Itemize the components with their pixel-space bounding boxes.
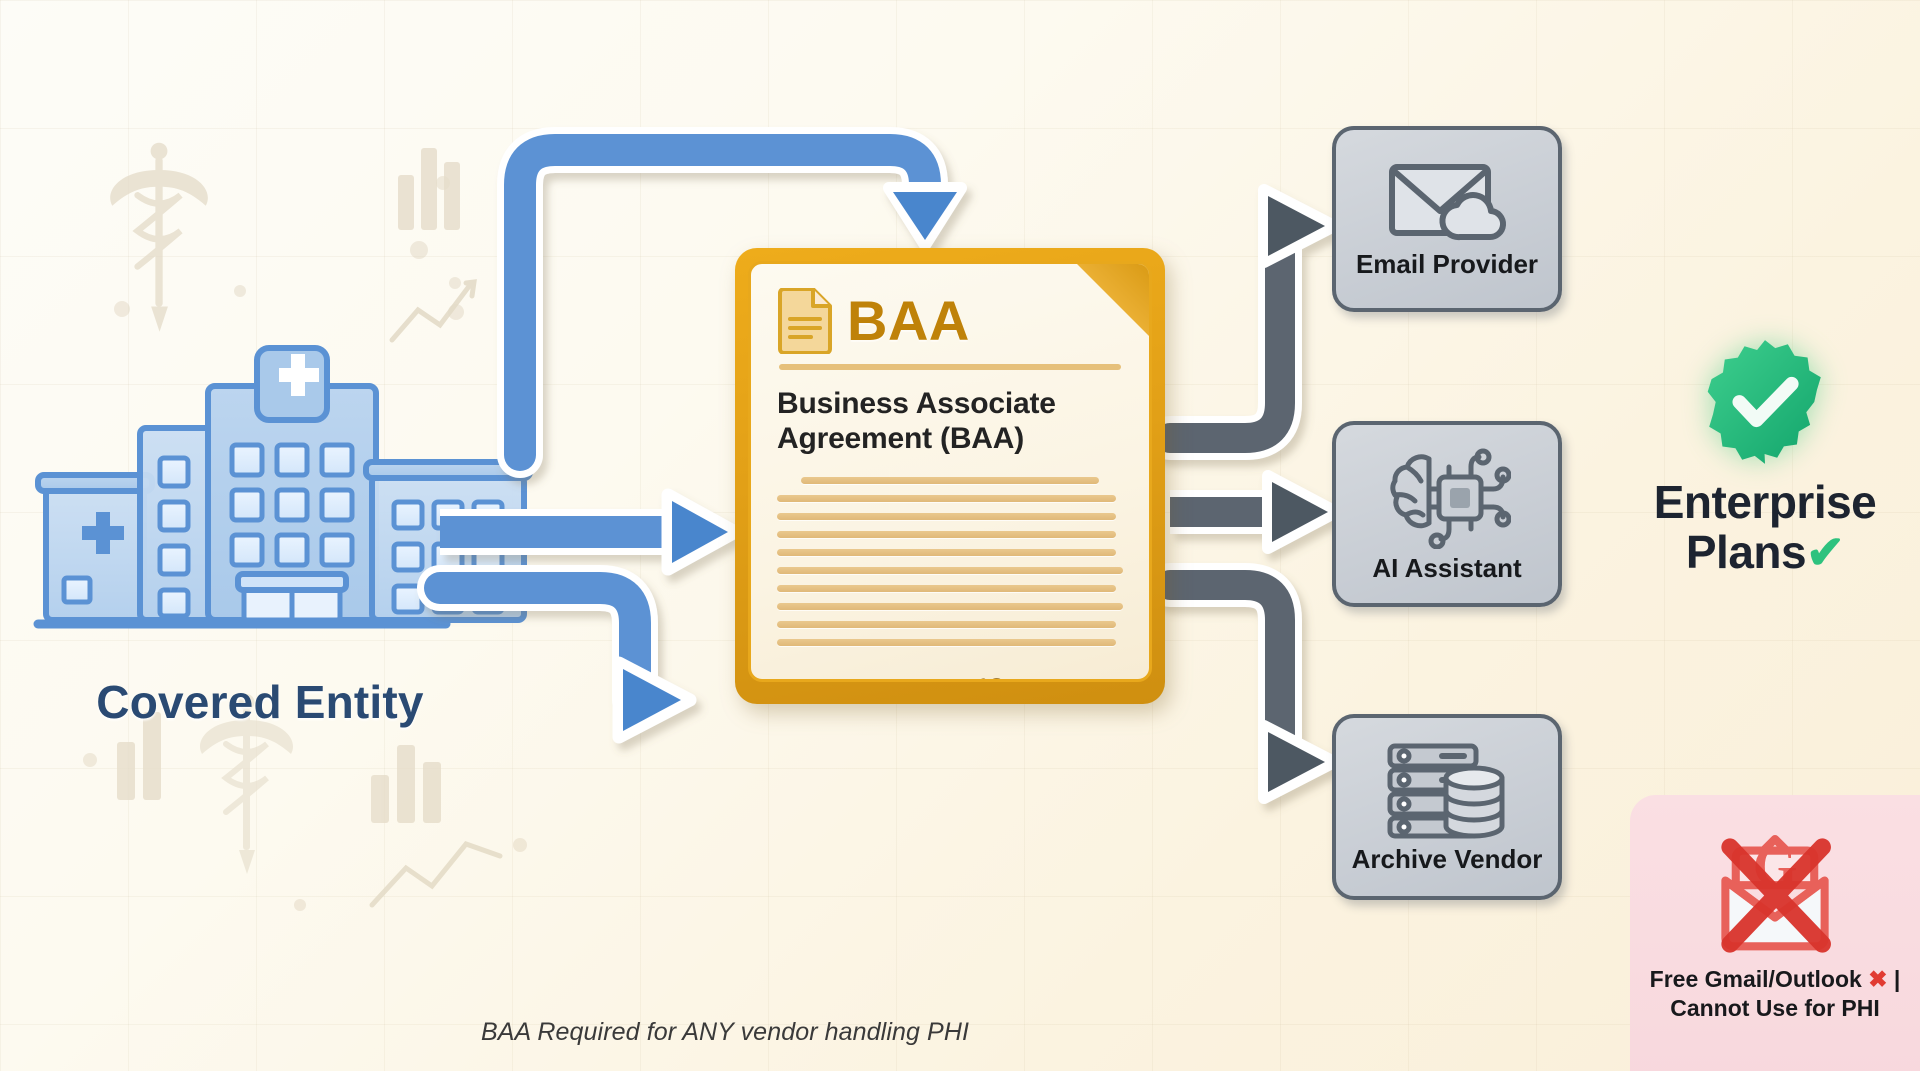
green-check-badge-icon [1701, 338, 1829, 466]
vendor-label: AI Assistant [1366, 553, 1527, 583]
diagram-footnote: BAA Required for ANY vendor handling PHI [0, 1018, 1450, 1047]
outbound-arrow-group [1170, 190, 1336, 798]
warning-line2: Cannot Use for PHI [1670, 995, 1880, 1021]
document-abbr: BAA [847, 293, 970, 349]
enterprise-line1: Enterprise [1654, 476, 1877, 528]
signature-block: Signature Signature [777, 672, 937, 682]
warning-label: Free Gmail/Outlook ✖ | Cannot Use for PH… [1644, 965, 1907, 1023]
server-database-icon [1384, 740, 1510, 840]
baa-document: BAA Business Associate Agreement (BAA) [735, 248, 1165, 704]
document-body: BAA Business Associate Agreement (BAA) [748, 261, 1152, 682]
document-subtitle-line1: Business Associate [777, 386, 1123, 421]
signature-script: ∫ƒɣɱ— [963, 672, 1123, 682]
caduceus-watermark [110, 143, 208, 332]
warning-x-icon: ✖ [1868, 966, 1887, 992]
vendor-label: Email Provider [1350, 249, 1544, 279]
covered-entity-icon [30, 330, 550, 690]
document-text-lines [777, 477, 1123, 646]
signature-row: Signature Signature ∫ƒɣɱ— Signature [777, 672, 1123, 682]
brain-chip-icon [1383, 445, 1511, 549]
document-title-rule [779, 364, 1121, 370]
vendor-card-email-provider[interactable]: Email Provider [1332, 126, 1562, 312]
document-subtitle-line2: Agreement (BAA) [777, 421, 1123, 456]
envelope-cloud-icon [1387, 159, 1507, 245]
enterprise-plans-label: Enterprise Plans✔ [1620, 478, 1910, 577]
enterprise-line2: Plans [1686, 526, 1806, 578]
covered-entity-label: Covered Entity [20, 675, 500, 729]
document-lines-icon [777, 288, 833, 354]
diagram-canvas: Covered Entity [0, 0, 1920, 1071]
vendor-card-archive-vendor[interactable]: Archive Vendor [1332, 714, 1562, 900]
warning-line1-suffix: | [1888, 966, 1901, 992]
vendor-label: Archive Vendor [1346, 844, 1549, 874]
crossed-out-gmail-envelope-icon: G [1700, 809, 1850, 959]
signature-script: Signature [777, 672, 937, 682]
enterprise-plans-block: Enterprise Plans✔ [1620, 338, 1910, 577]
signature-block: ∫ƒɣɱ— Signature [963, 672, 1123, 682]
warning-panel: G Free Gmail/Outlook ✖ | Cannot Use for … [1630, 795, 1920, 1071]
vendor-card-ai-assistant[interactable]: AI Assistant [1332, 421, 1562, 607]
warning-line1-prefix: Free Gmail/Outlook [1650, 966, 1869, 992]
enterprise-check-icon: ✔ [1806, 526, 1844, 578]
